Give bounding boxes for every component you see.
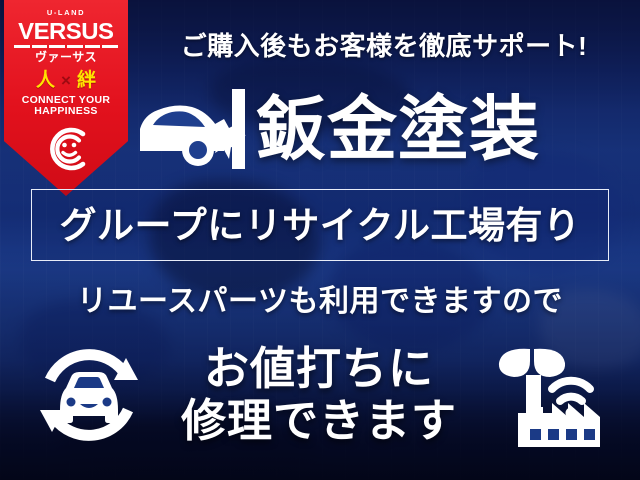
recycle-factory-text: グループにリサイクル工場有り <box>60 207 581 244</box>
cross-icon: × <box>61 72 71 89</box>
bottom-message: お値打ちに 修理できます <box>148 343 490 447</box>
brand-hito-kanji: 人 <box>36 71 55 90</box>
brand-tagline: CONNECT YOUR HAPPINESS <box>22 95 111 118</box>
bottom-section: お値打ちに 修理できます <box>0 330 640 460</box>
eco-factory-icon <box>490 337 610 453</box>
car-collision-icon <box>136 89 254 169</box>
bottom-message-line2: 修理できます <box>148 395 490 447</box>
main-title-row: 鈑金塗装 <box>136 84 636 174</box>
recycle-factory-box: グループにリサイクル工場有り <box>31 189 609 261</box>
reuse-parts-text: リユースパーツも利用できますので <box>0 287 640 317</box>
sub-headline: ご購入後もお客様を徹底サポート! <box>136 33 632 59</box>
brand-versus-label: VERSUS <box>18 20 113 43</box>
car-recycle-icon <box>30 336 148 454</box>
brand-versus-row: VERSUS <box>20 20 112 43</box>
brand-versus-kana: ヴァーサス <box>35 51 97 63</box>
bottom-message-line1: お値打ちに <box>148 343 490 395</box>
banner-advertisement: U-LAND VERSUS ヴァーサス 人 × 絆 CONNECT YOUR H… <box>0 0 640 480</box>
main-title: 鈑金塗装 <box>256 94 540 164</box>
brand-tagline-line2: HAPPINESS <box>22 106 111 118</box>
smiley-c-icon <box>39 122 93 176</box>
brand-slogan-symbols: 人 × 絆 <box>36 71 96 90</box>
brand-divider-bars <box>14 45 118 48</box>
brand-uland-label: U-LAND <box>47 9 85 17</box>
brand-kizuna-kanji: 絆 <box>77 71 96 90</box>
